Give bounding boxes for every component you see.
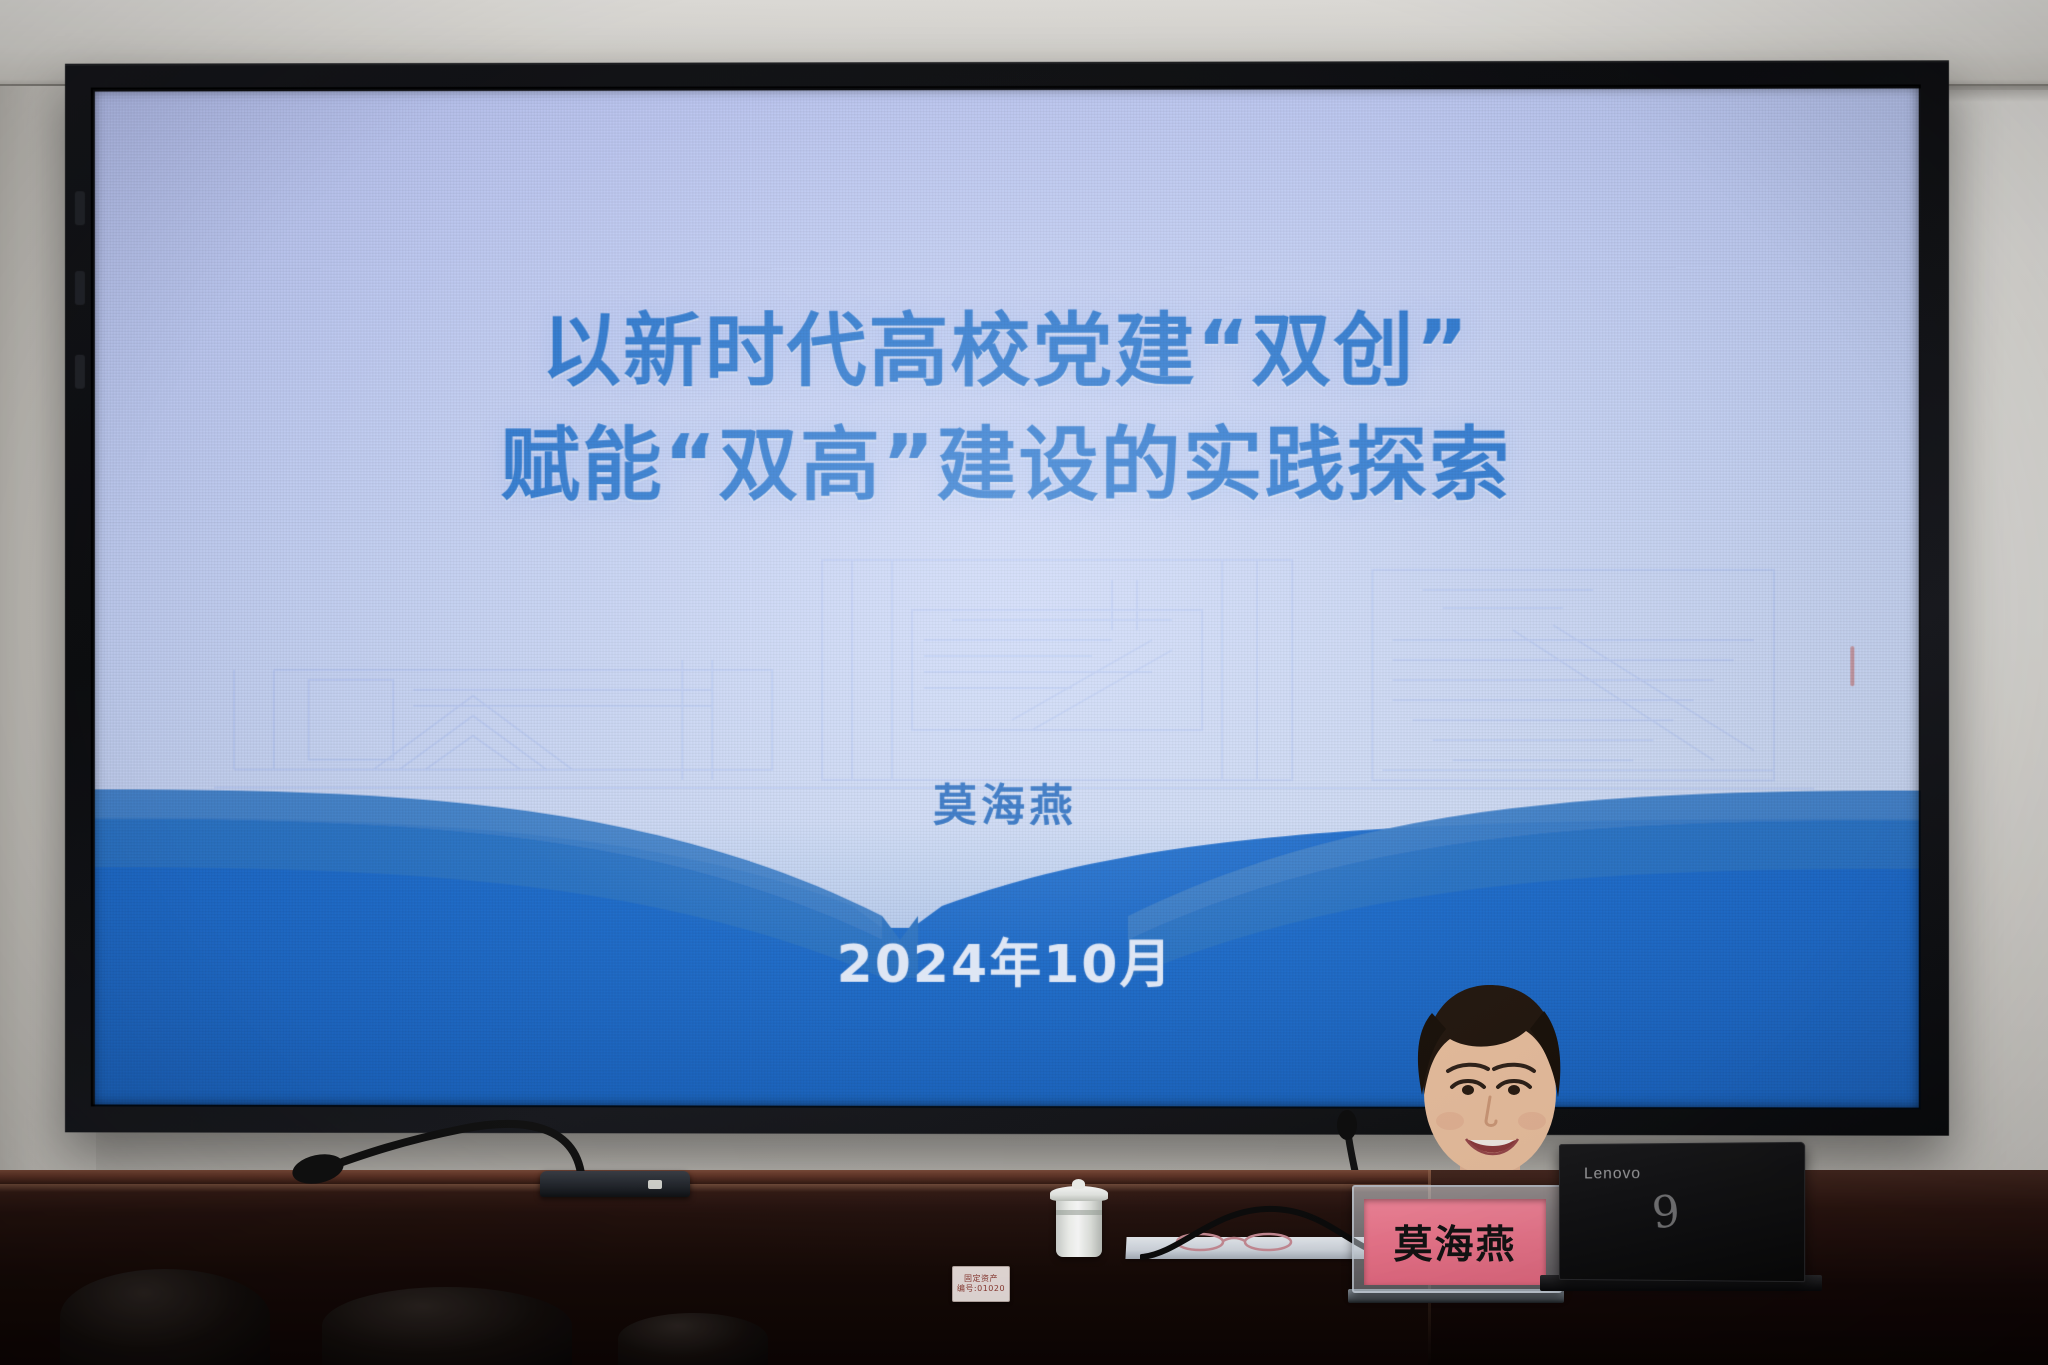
laptop-handwritten-mark: 9 (1650, 1190, 1682, 1237)
microphone-status-led-icon (648, 1180, 662, 1189)
laptop-lid: Lenovo 9 (1559, 1142, 1805, 1282)
teacup-knob-icon (1072, 1179, 1085, 1189)
name-placard: 莫海燕 (1364, 1199, 1546, 1285)
bezel-sensor-icon (75, 191, 85, 225)
presentation-room-photo: 以新时代高校党建“双创” 赋能“双高”建设的实践探索 莫海燕 (0, 0, 2048, 1365)
name-placard-text: 莫海燕 (1393, 1214, 1516, 1270)
lenovo-logo: Lenovo (1584, 1165, 1641, 1183)
led-screen-bezel: 以新时代高校党建“双创” 赋能“双高”建设的实践探索 莫海燕 (65, 60, 1949, 1135)
audience-head-silhouette (60, 1269, 270, 1365)
audience-head-silhouette (322, 1287, 572, 1365)
asset-tag-line-2: 编号:01020 (957, 1284, 1005, 1294)
teacup-band (1056, 1210, 1102, 1215)
asset-tag-label: 固定资产 编号:01020 (952, 1266, 1010, 1302)
audience-head-silhouette (618, 1313, 768, 1365)
bezel-sensor-icon (75, 271, 85, 305)
bezel-sensor-icon (75, 355, 85, 389)
microphone-base (540, 1171, 690, 1197)
teacup (1056, 1195, 1102, 1257)
asset-tag-line-1: 固定资产 (964, 1274, 998, 1284)
